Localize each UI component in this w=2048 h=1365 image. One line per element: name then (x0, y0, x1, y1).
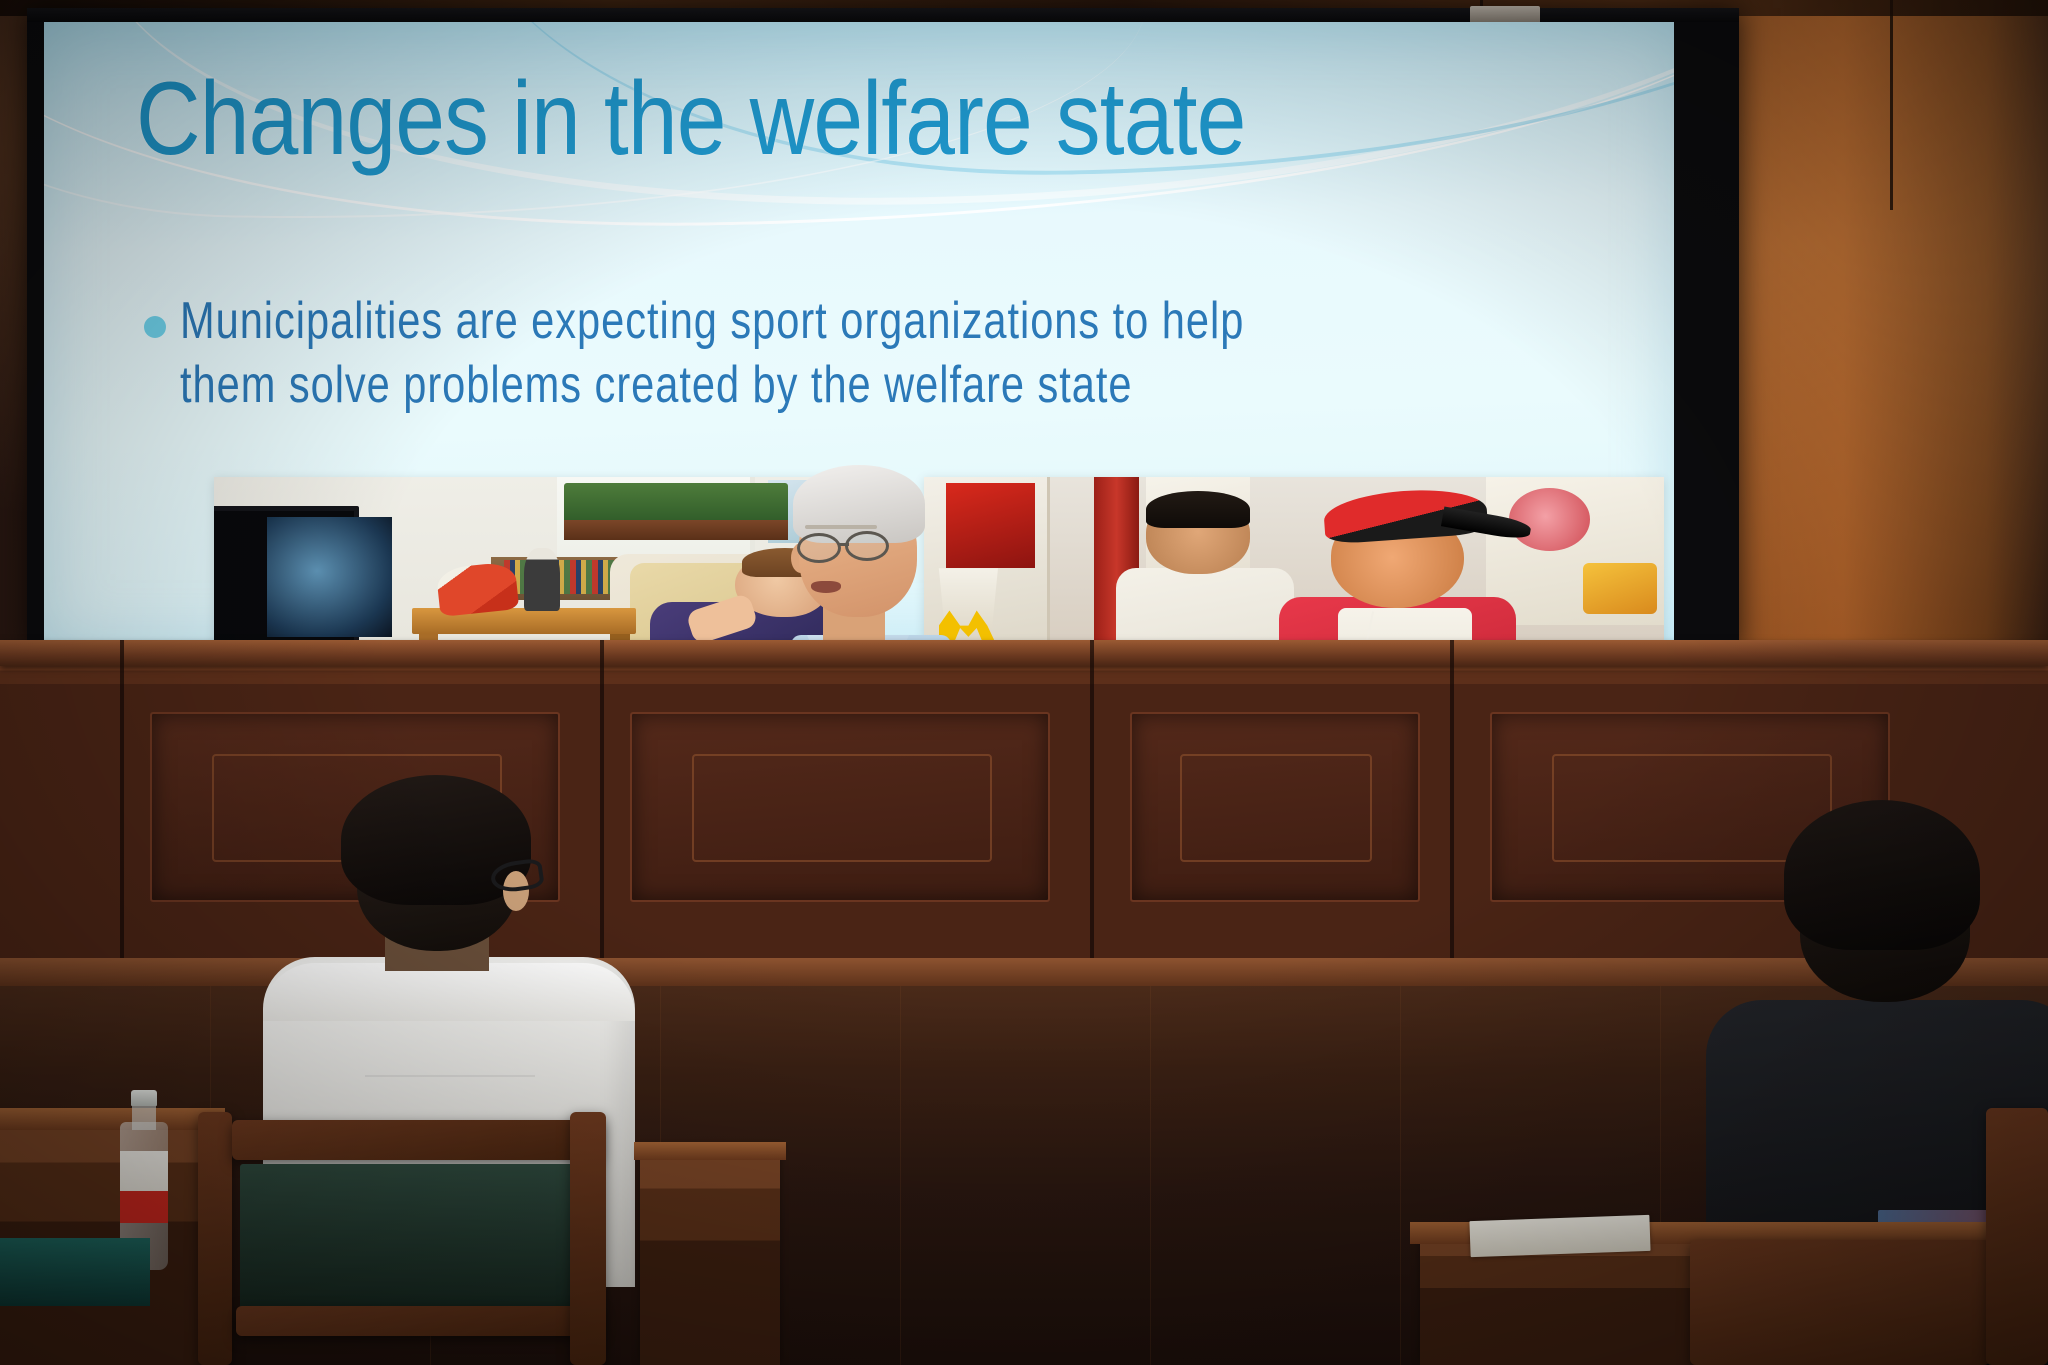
bullet-dot-icon (144, 316, 166, 338)
audience-chair-frame (198, 1112, 232, 1365)
desk-seam (1090, 640, 1094, 980)
audience-chair-rail (236, 1306, 602, 1336)
conference-room-scene: Changes in the welfare state Municipalit… (0, 0, 2048, 1365)
audience-chair-backrest (1690, 1240, 1990, 1365)
desk-seam (120, 640, 124, 980)
audience-chair-backrest (232, 1120, 602, 1160)
slide-title: Changes in the welfare state (136, 70, 1357, 169)
shirt-fold (365, 1075, 535, 1077)
bullet-text: Municipalities are expecting sport organ… (180, 290, 1335, 418)
slide-bullet-list: Municipalities are expecting sport organ… (144, 290, 1624, 418)
audience-desk (640, 1150, 780, 1365)
front-desk-top-edge (0, 640, 2048, 666)
presenter-eyebrow (805, 525, 877, 529)
desk-panel (630, 712, 1050, 902)
audience-desk-top (0, 1108, 225, 1130)
eyeglasses-icon (845, 531, 889, 561)
audience-chair-cushion (240, 1164, 592, 1314)
eyeglasses-icon (797, 533, 841, 563)
eyeglasses-bridge (839, 543, 849, 546)
audience-hair (1784, 800, 1980, 950)
audience-shoulders (263, 963, 635, 1021)
audience-chair-frame (570, 1112, 606, 1365)
desk-panel (1130, 712, 1420, 902)
chair-upholstery (0, 1238, 150, 1306)
wall-seam (1890, 0, 1893, 210)
audience-desk-top (634, 1142, 786, 1160)
paper-document (1469, 1215, 1650, 1257)
list-item: Municipalities are expecting sport organ… (144, 290, 1624, 418)
presenter-mouth (811, 581, 841, 593)
audience-chair-frame (1986, 1108, 2048, 1365)
desk-seam (1450, 640, 1454, 980)
